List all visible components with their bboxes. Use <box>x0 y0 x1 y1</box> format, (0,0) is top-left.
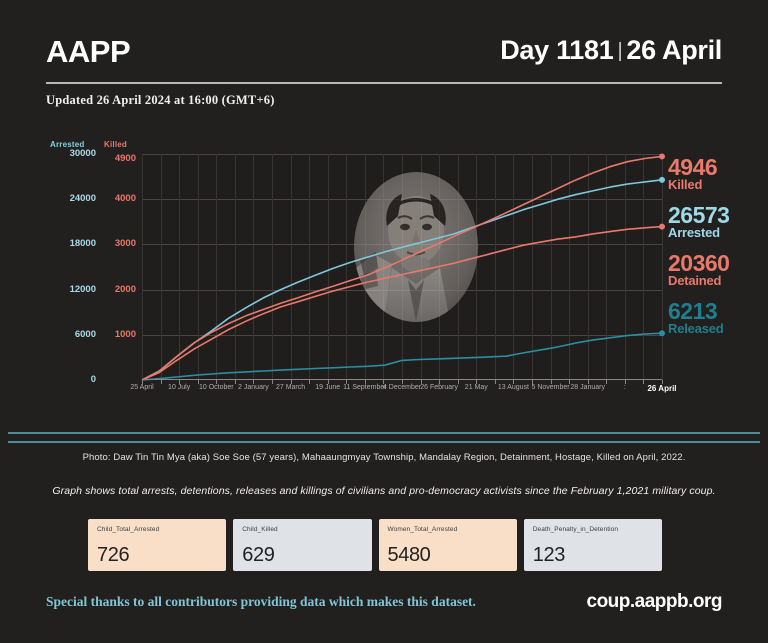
callout-released: 6213 Released <box>668 300 724 335</box>
x-tick-label: 19 June <box>315 384 340 391</box>
series-line-arrested <box>142 180 662 380</box>
series-endpoint-released <box>659 330 665 336</box>
x-tick-label: : <box>624 384 626 391</box>
left-tick-label: 24000 <box>46 193 96 204</box>
callout-released-value: 6213 <box>668 300 724 322</box>
x-tick-label: 25 April <box>130 384 153 391</box>
x-tick-label: 28 January <box>570 384 605 391</box>
day-date-title: Day 1181|26 April <box>500 35 722 66</box>
line-chart: Arrested Killed 300002400018000120006000… <box>46 140 722 410</box>
left-tick-label: 6000 <box>46 329 96 340</box>
stat-card-value: 123 <box>533 544 565 567</box>
x-tick-label: 11 September <box>343 384 386 391</box>
plot-area <box>142 154 662 380</box>
stat-card-value: 726 <box>97 544 129 567</box>
right-tick-label: 4000 <box>100 193 136 204</box>
left-tick-label: 12000 <box>46 284 96 295</box>
right-tick-label: 4900 <box>100 153 136 164</box>
x-tick-label: 10 October <box>199 384 234 391</box>
infographic-poster: AAPP Day 1181|26 April Updated 26 April … <box>0 0 768 643</box>
left-tick-label: 0 <box>46 374 96 385</box>
callout-released-label: Released <box>668 322 724 335</box>
x-tick-label: 2 January <box>238 384 269 391</box>
callout-detained: 20360 Detained <box>668 252 729 287</box>
left-tick-label: 30000 <box>46 148 96 159</box>
x-axis-labels: 25 April10 July10 October2 January27 Mar… <box>142 384 662 398</box>
series-line-detained <box>142 227 662 380</box>
x-tick-label: 26 April <box>647 384 676 393</box>
date-label: 26 April <box>626 35 722 65</box>
website-url[interactable]: coup.aappb.org <box>587 591 723 613</box>
right-tick-label: 1000 <box>100 329 136 340</box>
graph-description: Graph shows total arrests, detentions, r… <box>0 485 768 497</box>
gridline <box>662 154 663 380</box>
photo-caption: Photo: Daw Tin Tin Mya (aka) Soe Soe (57… <box>0 452 768 463</box>
stat-card: Death_Penalty_in_Detention123 <box>524 519 662 571</box>
callout-killed: 4946 Killed <box>668 156 717 191</box>
divider-line-bottom <box>8 441 760 443</box>
x-tick-label: 4 December <box>383 384 421 391</box>
left-tick-label: 18000 <box>46 238 96 249</box>
stat-card-value: 629 <box>242 544 274 567</box>
x-tick-label: 26 February <box>420 384 458 391</box>
series-line-released <box>142 333 662 380</box>
callout-detained-value: 20360 <box>668 252 729 274</box>
day-count-label: Day 1181 <box>500 35 613 65</box>
thanks-text: Special thanks to all contributors provi… <box>46 594 476 610</box>
right-tick-label: 3000 <box>100 238 136 249</box>
series-line-killed <box>142 156 662 380</box>
brand-title: AAPP <box>46 34 130 70</box>
stat-card-key: Child_Total_Arrested <box>97 526 217 533</box>
x-tick-label: 5 November <box>531 384 569 391</box>
series-endpoint-arrested <box>659 177 665 183</box>
callout-killed-value: 4946 <box>668 156 717 178</box>
stat-card-key: Child_Killed <box>242 526 362 533</box>
title-separator: | <box>613 40 626 62</box>
callout-arrested: 26573 Arrested <box>668 204 729 239</box>
series-endpoint-detained <box>659 224 665 230</box>
series-lines <box>142 154 662 380</box>
header-divider <box>46 82 722 84</box>
stat-cards: Child_Total_Arrested726Child_Killed629Wo… <box>88 519 662 571</box>
x-tick-label: 13 August <box>498 384 529 391</box>
right-tick-label: 2000 <box>100 284 136 295</box>
poster-footer: Special thanks to all contributors provi… <box>0 588 768 622</box>
callout-detained-label: Detained <box>668 274 729 287</box>
stat-card-key: Women_Total_Arrested <box>388 526 508 533</box>
updated-timestamp: Updated 26 April 2024 at 16:00 (GMT+6) <box>46 93 275 108</box>
divider-line-top <box>8 432 760 434</box>
stat-card: Child_Total_Arrested726 <box>88 519 226 571</box>
stat-card: Women_Total_Arrested5480 <box>379 519 517 571</box>
stat-card-value: 5480 <box>388 544 431 567</box>
stat-card-key: Death_Penalty_in_Detention <box>533 526 653 533</box>
series-endpoint-killed <box>659 153 665 159</box>
right-axis-title: Killed <box>104 140 127 149</box>
stat-card: Child_Killed629 <box>233 519 371 571</box>
x-tick-label: 10 July <box>168 384 190 391</box>
x-tick-label: 21 May <box>465 384 488 391</box>
poster-header: AAPP Day 1181|26 April <box>46 28 722 86</box>
x-tick-label: 27 March <box>276 384 305 391</box>
callout-arrested-value: 26573 <box>668 204 729 226</box>
